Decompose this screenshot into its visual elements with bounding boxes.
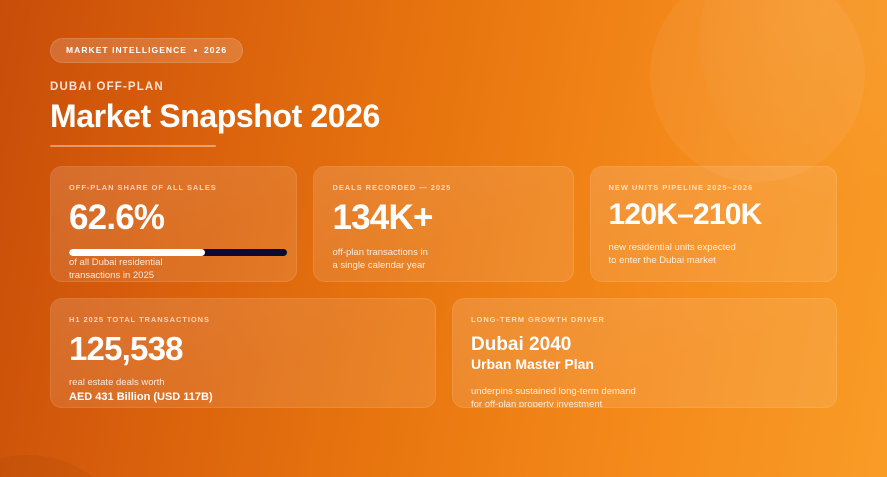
card-kicker: H1 2025 TOTAL TRANSACTIONS xyxy=(69,315,417,324)
title-underline-accent xyxy=(50,145,216,147)
decorative-circle-bottom-left xyxy=(0,455,135,477)
stat-card-dubai-2040-plan: LONG-TERM GROWTH DRIVER Dubai 2040 Urban… xyxy=(452,298,837,408)
card-subtext-line-1: off-plan transactions in xyxy=(332,247,427,258)
card-subtext-line-2: for off-plan property investment xyxy=(471,399,602,407)
card-subtext-line-1: new residential units expected xyxy=(609,242,736,253)
stat-card-offplan-share: OFF-PLAN SHARE OF ALL SALES 62.6% of all… xyxy=(50,166,297,282)
offplan-share-progress-fill xyxy=(69,249,205,256)
card-value-secondary: AED 431 Billion (USD 117B) xyxy=(69,391,417,403)
badge-year: 2026 xyxy=(204,45,227,55)
card-subtext-line-1: real estate deals worth xyxy=(69,376,417,390)
stat-card-new-units-pipeline: NEW UNITS PIPELINE 2025–2026 120K–210K n… xyxy=(590,166,837,282)
plan-title-secondary: Urban Master Plan xyxy=(471,356,818,374)
card-subtext-line-2: transactions in 2025 xyxy=(69,270,154,281)
offplan-share-progress-track xyxy=(69,249,287,256)
card-subtext-line-2: a single calendar year xyxy=(332,260,425,271)
card-subtext-line-1: of all Dubai residential xyxy=(69,257,162,268)
content-wrapper: MARKET INTELLIGENCE 2026 DUBAI OFF-PLAN … xyxy=(0,0,887,408)
card-value: 120K–210K xyxy=(609,200,818,230)
card-kicker: OFF-PLAN SHARE OF ALL SALES xyxy=(69,183,278,192)
badge-separator-dot xyxy=(194,49,197,52)
card-kicker: LONG-TERM GROWTH DRIVER xyxy=(471,315,818,324)
card-subtext-line-2: to enter the Dubai market xyxy=(609,255,716,266)
card-subtext: new residential units expected to enter … xyxy=(609,241,818,269)
stat-card-h1-transactions: H1 2025 TOTAL TRANSACTIONS 125,538 real … xyxy=(50,298,436,408)
plan-title-primary: Dubai 2040 xyxy=(471,334,818,356)
card-subtext-line-1: underpins sustained long-term demand xyxy=(471,386,636,397)
stat-row-bottom: H1 2025 TOTAL TRANSACTIONS 125,538 real … xyxy=(50,298,837,408)
card-subtext: of all Dubai residential transactions in… xyxy=(69,256,278,282)
card-kicker: NEW UNITS PIPELINE 2025–2026 xyxy=(609,183,818,192)
infographic-canvas: MARKET INTELLIGENCE 2026 DUBAI OFF-PLAN … xyxy=(0,0,887,477)
card-kicker: DEALS RECORDED — 2025 xyxy=(332,183,554,192)
card-subtext: off-plan transactions in a single calend… xyxy=(332,246,554,274)
stat-card-deals-recorded: DEALS RECORDED — 2025 134K+ off-plan tra… xyxy=(313,166,573,282)
stat-row-top: OFF-PLAN SHARE OF ALL SALES 62.6% of all… xyxy=(50,166,837,282)
eyebrow-label: DUBAI OFF-PLAN xyxy=(50,81,837,93)
card-subtext: underpins sustained long-term demand for… xyxy=(471,385,818,408)
card-value: 125,538 xyxy=(69,332,417,365)
page-title: Market Snapshot 2026 xyxy=(50,100,837,134)
card-value: 62.6% xyxy=(69,200,278,235)
market-intelligence-badge: MARKET INTELLIGENCE 2026 xyxy=(50,38,243,63)
badge-label: MARKET INTELLIGENCE xyxy=(66,45,187,55)
card-value: 134K+ xyxy=(332,200,554,235)
